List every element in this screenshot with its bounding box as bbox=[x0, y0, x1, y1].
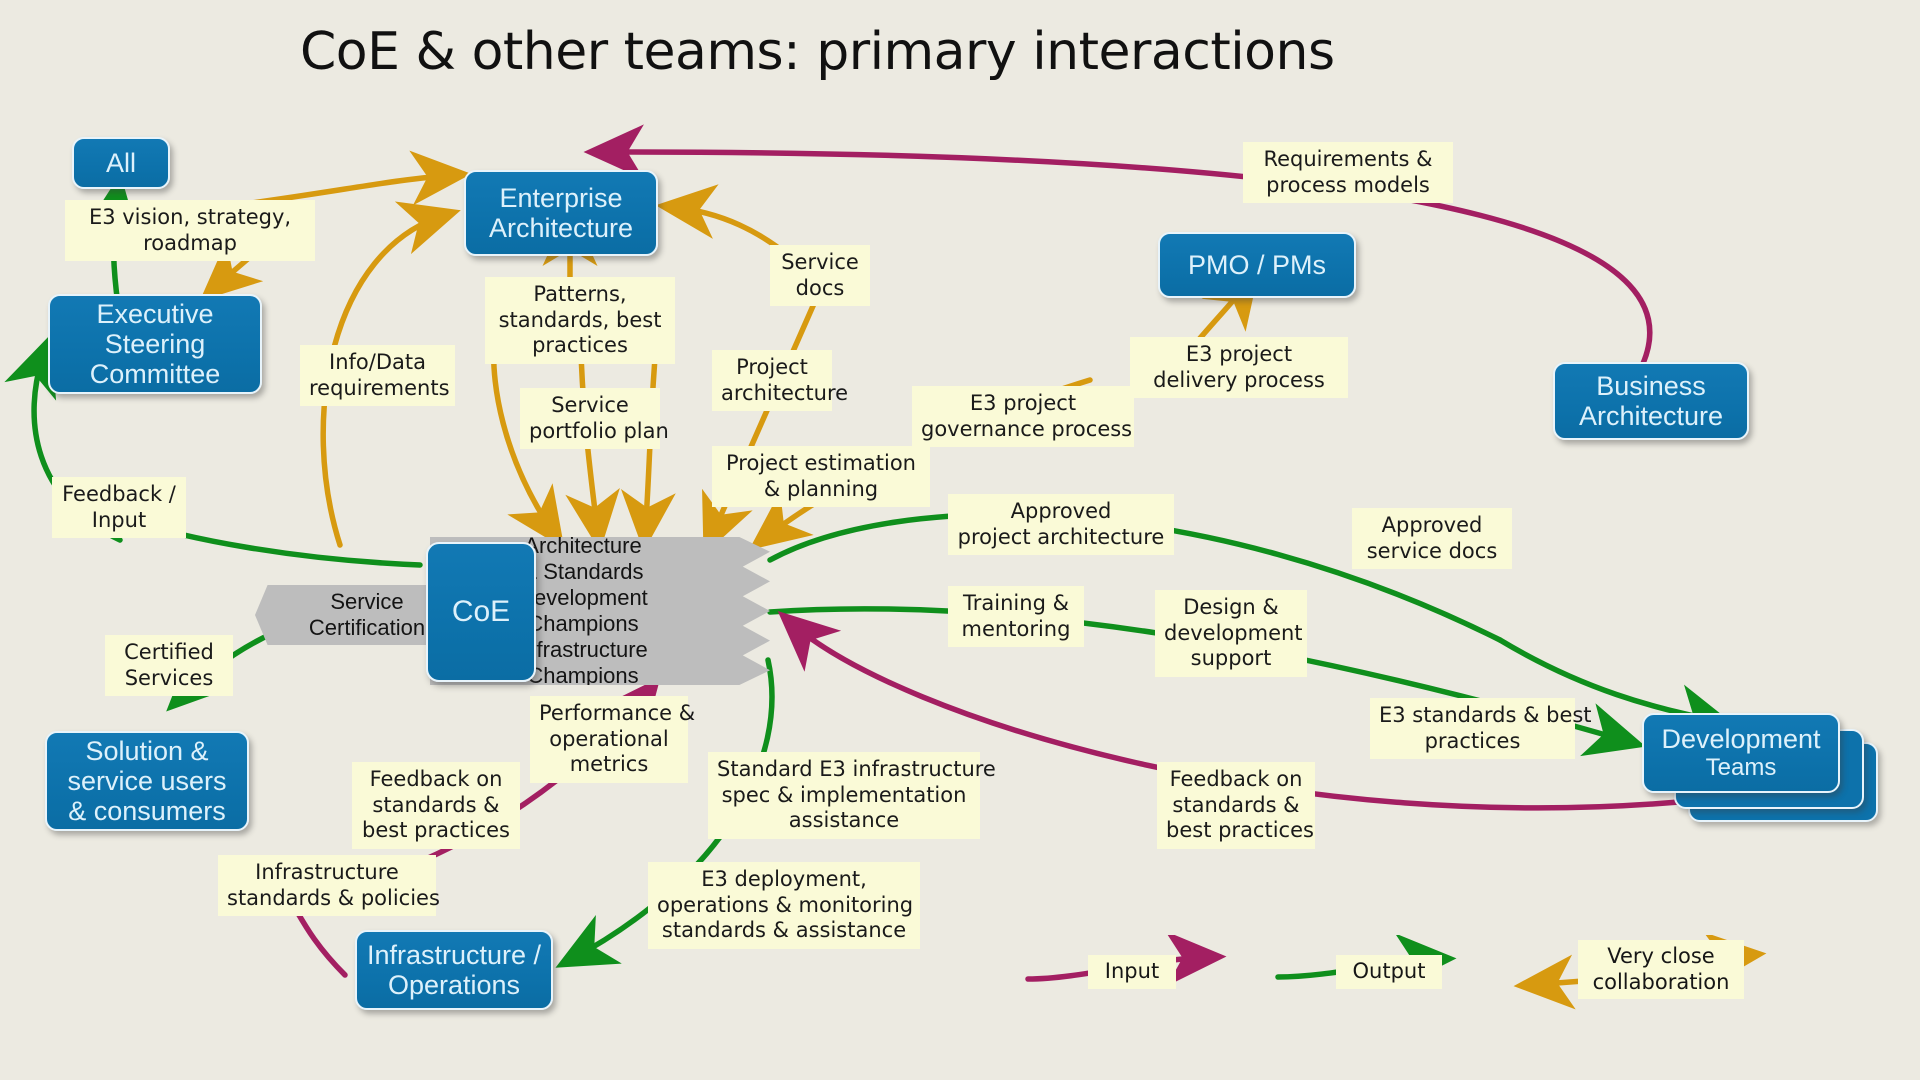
note-project-architecture: Projectarchitecture bbox=[712, 350, 832, 411]
edge-businessarch-to-enterprise bbox=[600, 152, 1650, 370]
node-enterprise-line1: Enterprise bbox=[499, 183, 622, 213]
note-e3-deployment-operations: E3 deployment,operations & monitoringsta… bbox=[648, 862, 920, 949]
note-design-development-support: Design &developmentsupport bbox=[1155, 590, 1307, 677]
note-service-docs: Servicedocs bbox=[770, 245, 870, 306]
legend-output: Output bbox=[1336, 955, 1442, 989]
coe-functions-line2: & Standards bbox=[518, 559, 648, 585]
note-feedback-standards-best-practices-right: Feedback onstandards &best practices bbox=[1157, 762, 1315, 849]
node-executive-line2: Steering bbox=[105, 329, 206, 359]
note-patterns-standards-best-practices: Patterns,standards, bestpractices bbox=[485, 277, 675, 364]
node-devteams-line1: Development bbox=[1661, 724, 1820, 754]
diagram-canvas: CoE & other teams: primary interactions … bbox=[0, 0, 1920, 1080]
note-service-portfolio-plan: Serviceportfolio plan bbox=[520, 388, 660, 449]
node-development-teams[interactable]: Development Teams bbox=[1642, 713, 1840, 793]
note-standard-e3-infrastructure-spec: Standard E3 infrastructurespec & impleme… bbox=[708, 752, 980, 839]
note-approved-project-architecture: Approvedproject architecture bbox=[948, 494, 1174, 555]
coe-functions-line5: Infrastructure bbox=[518, 637, 648, 663]
note-e3-project-governance-process: E3 projectgovernance process bbox=[912, 386, 1134, 447]
node-infraops-line1: Infrastructure / bbox=[367, 940, 541, 970]
note-performance-operational-metrics: Performance &operationalmetrics bbox=[530, 696, 688, 783]
node-solution-line3: & consumers bbox=[68, 796, 226, 826]
node-executive-line1: Executive bbox=[96, 299, 213, 329]
node-infrastructure-operations[interactable]: Infrastructure / Operations bbox=[355, 930, 553, 1010]
note-approved-service-docs: Approvedservice docs bbox=[1352, 508, 1512, 569]
coe-functions-line4: Champions bbox=[518, 611, 648, 637]
coe-functions-line3: Development bbox=[518, 585, 648, 611]
note-training-mentoring: Training &mentoring bbox=[948, 586, 1084, 647]
node-solution-line1: Solution & bbox=[85, 736, 208, 766]
note-project-estimation-planning: Project estimation& planning bbox=[712, 446, 930, 507]
service-certification-line1: Service bbox=[309, 589, 425, 615]
node-executive-steering-committee[interactable]: Executive Steering Committee bbox=[48, 294, 262, 394]
node-businessarch-line2: Architecture bbox=[1579, 401, 1723, 431]
node-solution-service-users[interactable]: Solution & service users & consumers bbox=[45, 731, 249, 831]
legend-very-close-collaboration: Very closecollaboration bbox=[1578, 940, 1744, 999]
node-devteams-line2: Teams bbox=[1706, 755, 1777, 782]
service-certification-line2: Certification bbox=[309, 615, 425, 641]
note-e3-standards-best-practices: E3 standards & bestpractices bbox=[1370, 698, 1575, 759]
legend-input: Input bbox=[1088, 955, 1176, 989]
node-infraops-line2: Operations bbox=[388, 970, 520, 1000]
node-business-architecture[interactable]: Business Architecture bbox=[1553, 362, 1749, 440]
node-all-label: All bbox=[106, 148, 136, 178]
note-requirements-process-models: Requirements &process models bbox=[1243, 142, 1453, 203]
note-certified-services: CertifiedServices bbox=[105, 635, 233, 696]
note-e3-project-delivery-process: E3 projectdelivery process bbox=[1130, 337, 1348, 398]
node-businessarch-line1: Business bbox=[1596, 371, 1706, 401]
note-infrastructure-standards-policies: Infrastructurestandards & policies bbox=[218, 855, 436, 916]
node-coe-label: CoE bbox=[452, 595, 510, 629]
node-pmo-label: PMO / PMs bbox=[1188, 250, 1326, 280]
note-info-data-requirements: Info/Datarequirements bbox=[300, 345, 455, 406]
note-e3-vision-strategy-roadmap: E3 vision, strategy,roadmap bbox=[65, 200, 315, 261]
node-executive-line3: Committee bbox=[90, 359, 221, 389]
note-feedback-input: Feedback /Input bbox=[52, 477, 186, 538]
node-all[interactable]: All bbox=[72, 137, 170, 189]
note-feedback-standards-best-practices-left: Feedback onstandards &best practices bbox=[352, 762, 520, 849]
node-pmo-pms[interactable]: PMO / PMs bbox=[1158, 232, 1356, 298]
node-solution-line2: service users bbox=[67, 766, 226, 796]
coe-functions-line1: Architecture bbox=[518, 533, 648, 559]
coe-functions-line6: Champions bbox=[518, 663, 648, 689]
node-enterprise-line2: Architecture bbox=[489, 213, 633, 243]
node-coe[interactable]: CoE bbox=[426, 542, 536, 682]
page-title: CoE & other teams: primary interactions bbox=[300, 22, 1335, 82]
node-enterprise-architecture[interactable]: Enterprise Architecture bbox=[464, 170, 658, 256]
